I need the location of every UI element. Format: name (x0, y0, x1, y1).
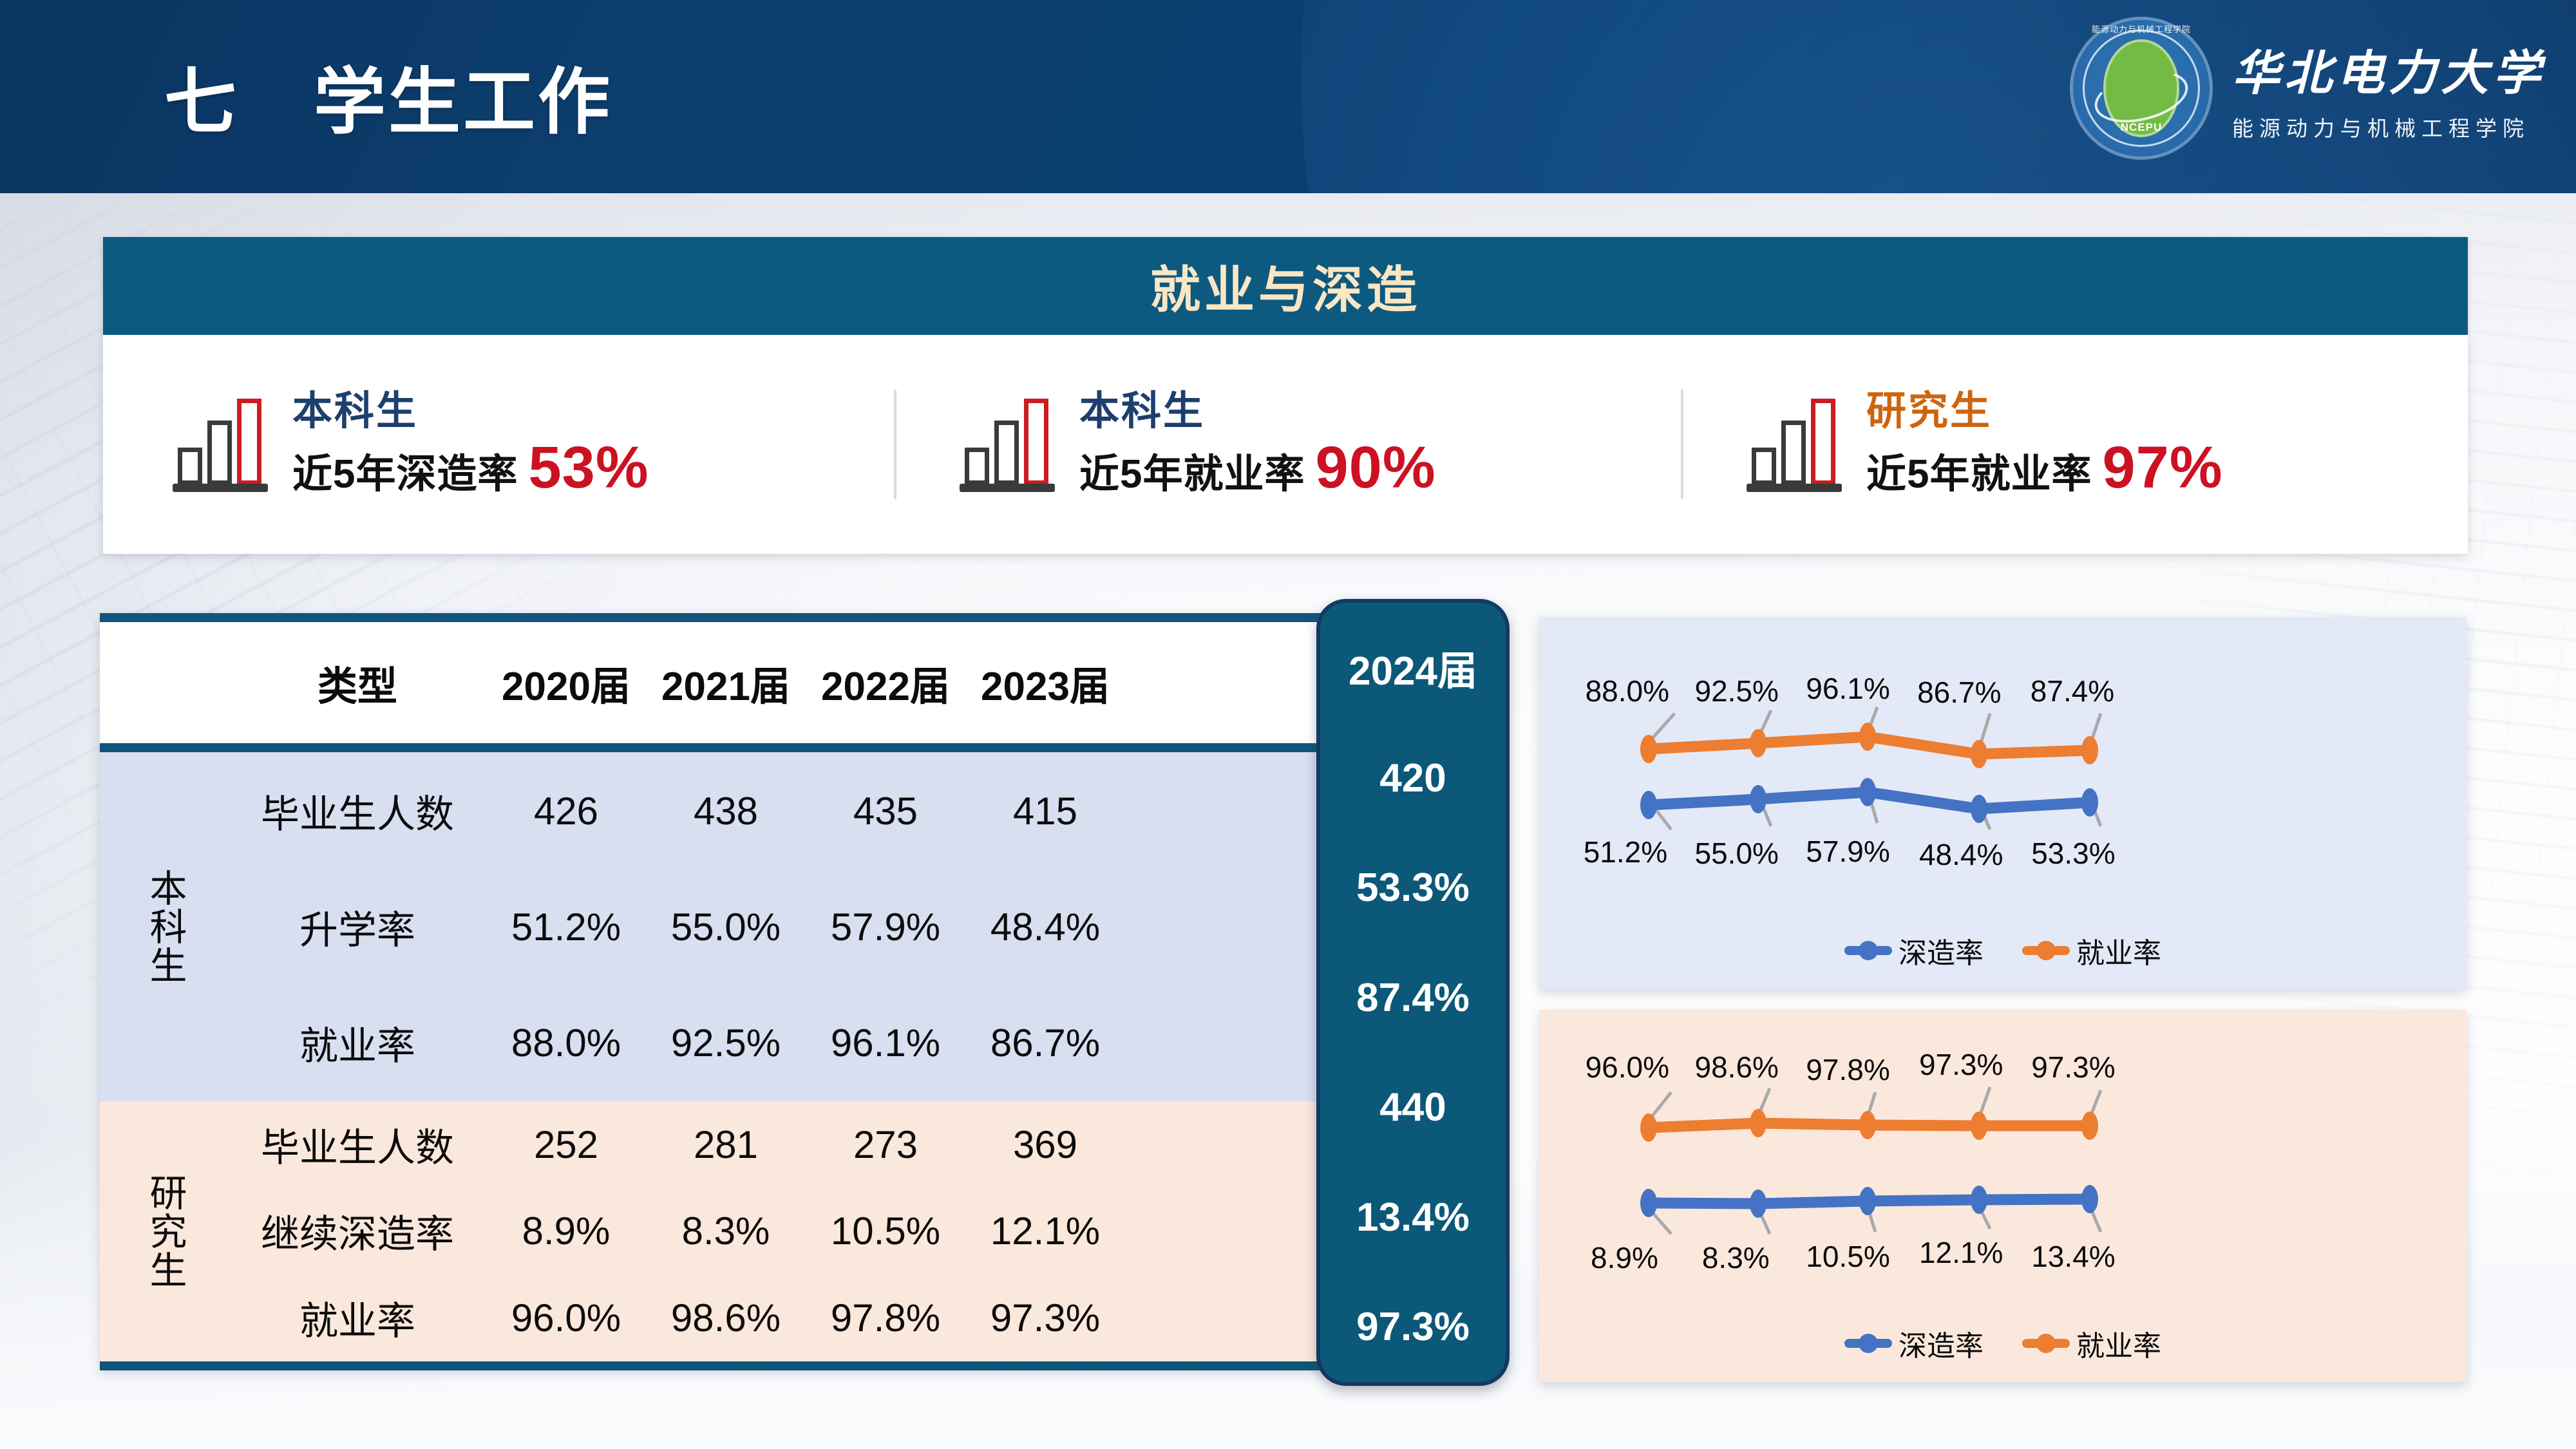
bar-chart-icon (167, 393, 270, 496)
cell-2022: 57.9% (806, 905, 965, 949)
legend-marker-advance-icon (1844, 1339, 1892, 1348)
table-group-postgraduate: 研究生 毕业生人数 252 281 273 369 继续深造率 8.9% 8.3… (100, 1101, 1439, 1361)
data-label-advance-2022: 57.9% (1806, 834, 1889, 869)
stat-value-0: 53% (528, 435, 649, 500)
data-label-employment-2023: 86.7% (1917, 675, 2001, 710)
stats-strip: 本科生 近5年深造率 53% 本科生 近5年就业率 90% (103, 335, 2468, 554)
legend-item-employment[interactable]: 就业率 (2022, 1323, 2161, 1364)
table-header-row: 类型 2020届 2021届 2022届 2023届 (100, 622, 1439, 743)
cell-2023: 369 (965, 1122, 1125, 1167)
bar-chart-icon (954, 393, 1057, 496)
cell-2024-pg-graduates: 440 (1320, 1053, 1506, 1162)
table-header-rule (100, 743, 1439, 752)
legend-item-advance[interactable]: 深造率 (1844, 930, 1984, 971)
stat-audience-2: 研究生 (1866, 388, 2223, 434)
bar-chart-icon (1741, 393, 1844, 496)
section-banner-title: 就业与深造 (1150, 250, 1421, 322)
cell-2022: 96.1% (806, 1021, 965, 1065)
legend-label-employment: 就业率 (2076, 1323, 2161, 1364)
data-label-advance-2021: 8.3% (1702, 1240, 1770, 1275)
cell-2024-pg-employ: 97.3% (1320, 1273, 1506, 1382)
cell-2024-pg-advance: 13.4% (1320, 1162, 1506, 1272)
legend-marker-employment-icon (2022, 1339, 2070, 1348)
cell-2020: 8.9% (486, 1209, 646, 1253)
stat-card-0: 本科生 近5年深造率 53% (103, 335, 894, 554)
logo-text-block: 华北电力大学 能源动力与机械工程学院 (2232, 35, 2545, 142)
stat-value-2: 97% (2102, 435, 2222, 500)
cell-2024-ug-advance: 53.3% (1320, 833, 1506, 943)
legend-marker-employment-icon (2022, 946, 2070, 955)
table-header-2020: 2020届 (486, 654, 646, 712)
group-label-postgraduate: 研究生 (100, 1173, 229, 1289)
cell-2022: 97.8% (806, 1296, 965, 1340)
cell-2024-ug-graduates: 420 (1320, 724, 1506, 833)
cell-2023: 12.1% (965, 1209, 1125, 1253)
stat-audience-1: 本科生 (1079, 388, 1436, 434)
university-seal-icon: 能源动力与机械工程学院 NCEPU (2070, 17, 2213, 160)
table-row: 就业率 96.0% 98.6% 97.8% 97.3% (229, 1274, 1439, 1361)
row-label: 就业率 (229, 1290, 486, 1346)
stat-label-2: 近5年就业率 (1866, 453, 2092, 497)
data-label-advance-2023: 48.4% (1919, 837, 2003, 872)
table-bottom-rule (100, 1361, 1439, 1370)
cell-2022: 435 (806, 789, 965, 833)
seal-acronym: NCEPU (2070, 121, 2213, 134)
legend-item-advance[interactable]: 深造率 (1844, 1323, 1984, 1364)
legend-label-advance: 深造率 (1899, 1323, 1984, 1364)
table-row: 毕业生人数 426 438 435 415 (229, 753, 1439, 869)
leader-lines (1649, 1087, 2101, 1234)
table-header-2023: 2023届 (965, 654, 1125, 712)
chart-legend: 深造率 就业率 (1539, 1323, 2467, 1364)
cell-2020: 252 (486, 1122, 646, 1167)
cell-2021: 8.3% (646, 1209, 806, 1253)
data-label-employment-2023: 97.3% (1919, 1047, 2003, 1082)
chart-postgraduate: 96.0% 98.6% 97.8% 97.3% 97.3% 8.9% 8.3% … (1539, 1010, 2467, 1382)
stat-card-1: 本科生 近5年就业率 90% (896, 335, 1681, 554)
seal-arc-top-text: 能源动力与机械工程学院 (2070, 23, 2213, 35)
table-header-2021: 2021届 (646, 654, 806, 712)
stat-card-2: 研究生 近5年就业率 97% (1683, 335, 2468, 554)
school-name: 能源动力与机械工程学院 (2232, 111, 2545, 142)
cell-2020: 88.0% (486, 1021, 646, 1065)
group-label-undergraduate: 本科生 (100, 869, 229, 985)
cell-2021: 55.0% (646, 905, 806, 949)
data-label-advance-2024: 13.4% (2031, 1239, 2115, 1274)
table-row: 就业率 88.0% 92.5% 96.1% 86.7% (229, 985, 1439, 1101)
stat-label-0: 近5年深造率 (292, 453, 518, 497)
row-label: 毕业生人数 (229, 1117, 486, 1173)
legend-label-advance: 深造率 (1899, 930, 1984, 971)
university-logo: 能源动力与机械工程学院 NCEPU 华北电力大学 能源动力与机械工程学院 (2070, 17, 2545, 160)
table-header-type: 类型 (229, 654, 486, 712)
slide-header: 七 学生工作 能源动力与机械工程学院 NCEPU 华北电力大学 能源动力与机械工… (0, 0, 2576, 193)
data-label-employment-2024: 97.3% (2031, 1050, 2115, 1084)
row-label: 就业率 (229, 1015, 486, 1071)
data-label-employment-2020: 88.0% (1586, 674, 1669, 708)
data-label-employment-2020: 96.0% (1586, 1050, 1669, 1084)
data-label-employment-2024: 87.4% (2031, 674, 2114, 708)
chart-legend: 深造率 就业率 (1539, 930, 2467, 971)
table-header-2024: 2024届 (1320, 611, 1506, 724)
cell-2024-ug-employ: 87.4% (1320, 943, 1506, 1052)
cell-2021: 92.5% (646, 1021, 806, 1065)
legend-marker-advance-icon (1844, 946, 1892, 955)
cell-2021: 438 (646, 789, 806, 833)
chart-undergraduate: 88.0% 92.5% 96.1% 86.7% 87.4% 51.2% 55.0… (1539, 617, 2467, 989)
employment-table: 类型 2020届 2021届 2022届 2023届 本科生 毕业生人数 426… (100, 613, 1439, 1369)
cell-2021: 281 (646, 1122, 806, 1167)
cell-2022: 10.5% (806, 1209, 965, 1253)
table-top-rule (100, 613, 1439, 622)
table-row: 毕业生人数 252 281 273 369 (229, 1101, 1439, 1188)
section-banner: 就业与深造 (103, 237, 2468, 335)
legend-label-employment: 就业率 (2076, 930, 2161, 971)
stat-value-1: 90% (1315, 435, 1435, 500)
cell-2020: 426 (486, 789, 646, 833)
legend-item-employment[interactable]: 就业率 (2022, 930, 2161, 971)
row-label: 毕业生人数 (229, 783, 486, 839)
data-label-employment-2021: 98.6% (1695, 1050, 1779, 1084)
data-label-advance-2024: 53.3% (2031, 836, 2115, 871)
stat-audience-0: 本科生 (292, 388, 649, 434)
data-label-employment-2022: 96.1% (1806, 671, 1889, 706)
cell-2023: 48.4% (965, 905, 1125, 949)
table-header-2022: 2022届 (806, 654, 965, 712)
row-label: 升学率 (229, 899, 486, 955)
stat-label-1: 近5年就业率 (1079, 453, 1305, 497)
cell-2023: 97.3% (965, 1296, 1125, 1340)
table-row: 升学率 51.2% 55.0% 57.9% 48.4% (229, 869, 1439, 985)
data-label-advance-2022: 10.5% (1806, 1239, 1889, 1274)
page-title: 七 学生工作 (164, 44, 612, 148)
cell-2021: 98.6% (646, 1296, 806, 1340)
data-label-advance-2020: 8.9% (1591, 1240, 1658, 1275)
data-label-advance-2020: 51.2% (1584, 835, 1667, 869)
slide-canvas: 七 学生工作 能源动力与机械工程学院 NCEPU 华北电力大学 能源动力与机械工… (0, 0, 2576, 1449)
highlight-column-2024: 2024届 420 53.3% 87.4% 440 13.4% 97.3% (1316, 599, 1510, 1386)
cell-2020: 51.2% (486, 905, 646, 949)
table-row: 继续深造率 8.9% 8.3% 10.5% 12.1% (229, 1188, 1439, 1274)
table-group-undergraduate: 本科生 毕业生人数 426 438 435 415 升学率 51.2% 55.0… (100, 752, 1439, 1101)
cell-2022: 273 (806, 1122, 965, 1167)
cell-2020: 96.0% (486, 1296, 646, 1340)
data-label-advance-2021: 55.0% (1695, 836, 1779, 871)
row-label: 继续深造率 (229, 1203, 486, 1259)
cell-2023: 86.7% (965, 1021, 1125, 1065)
data-label-advance-2023: 12.1% (1919, 1235, 2003, 1270)
data-label-employment-2022: 97.8% (1806, 1052, 1889, 1087)
cell-2023: 415 (965, 789, 1125, 833)
data-label-employment-2021: 92.5% (1695, 674, 1779, 708)
university-name: 华北电力大学 (2232, 35, 2545, 104)
